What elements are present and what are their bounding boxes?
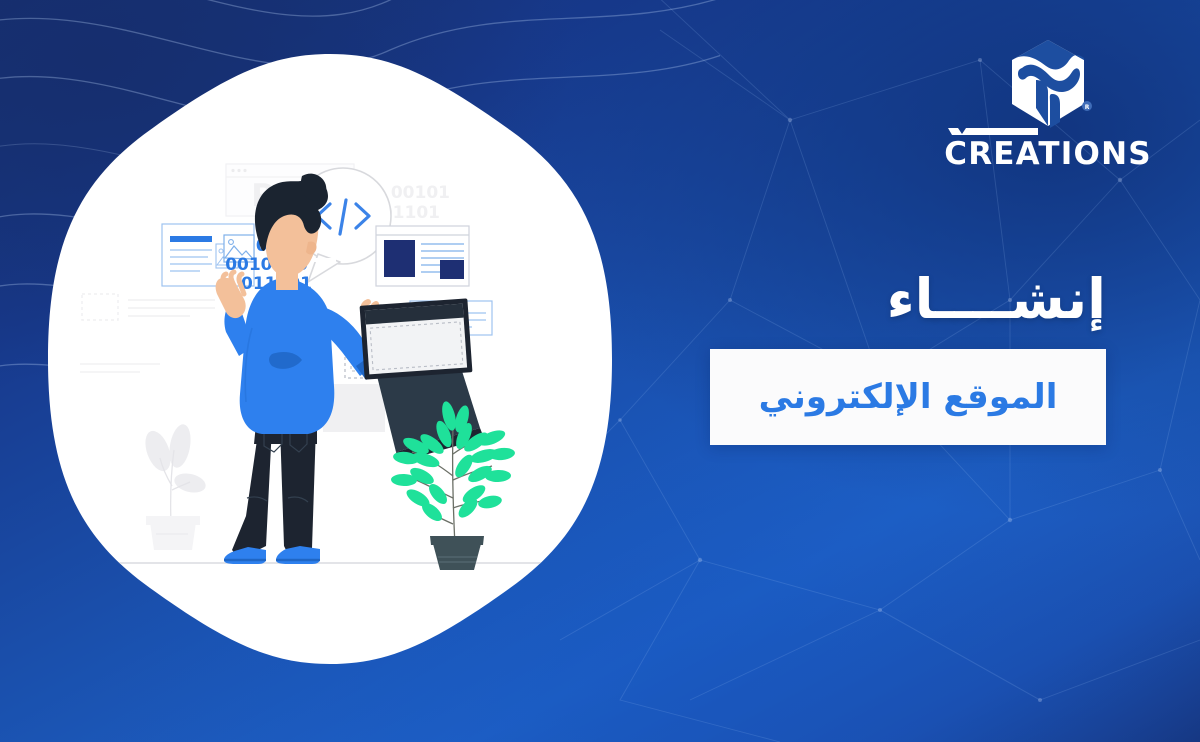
registered-symbol: R xyxy=(1085,104,1090,111)
web-developer-illustration: PHP 00101 00101101 011101 xyxy=(40,46,620,672)
banner-root: PHP 00101 00101101 011101 xyxy=(0,0,1200,742)
ghost-plant xyxy=(140,423,207,550)
headline-block: إنشــــاء الموقع الإلكتروني xyxy=(710,272,1106,445)
page-title: إنشــــاء xyxy=(710,272,1106,327)
brand-logo[interactable]: R CREATIONS xyxy=(960,36,1136,170)
subtitle-box: الموقع الإلكتروني xyxy=(710,349,1106,445)
ghost-lines-lower xyxy=(80,364,160,372)
brand-name: CREATIONS xyxy=(944,139,1152,170)
subtitle-text: الموقع الإلكتروني xyxy=(759,380,1058,414)
ghost-card-left xyxy=(82,294,215,320)
logo-swoosh-icon xyxy=(948,127,1038,136)
creations-cube-icon: R xyxy=(1002,36,1094,132)
left-hand xyxy=(216,272,246,318)
svg-text:00101: 00101 xyxy=(391,183,450,203)
brand-wordmark: CREATIONS xyxy=(944,136,1152,172)
content-card-right xyxy=(376,226,469,286)
